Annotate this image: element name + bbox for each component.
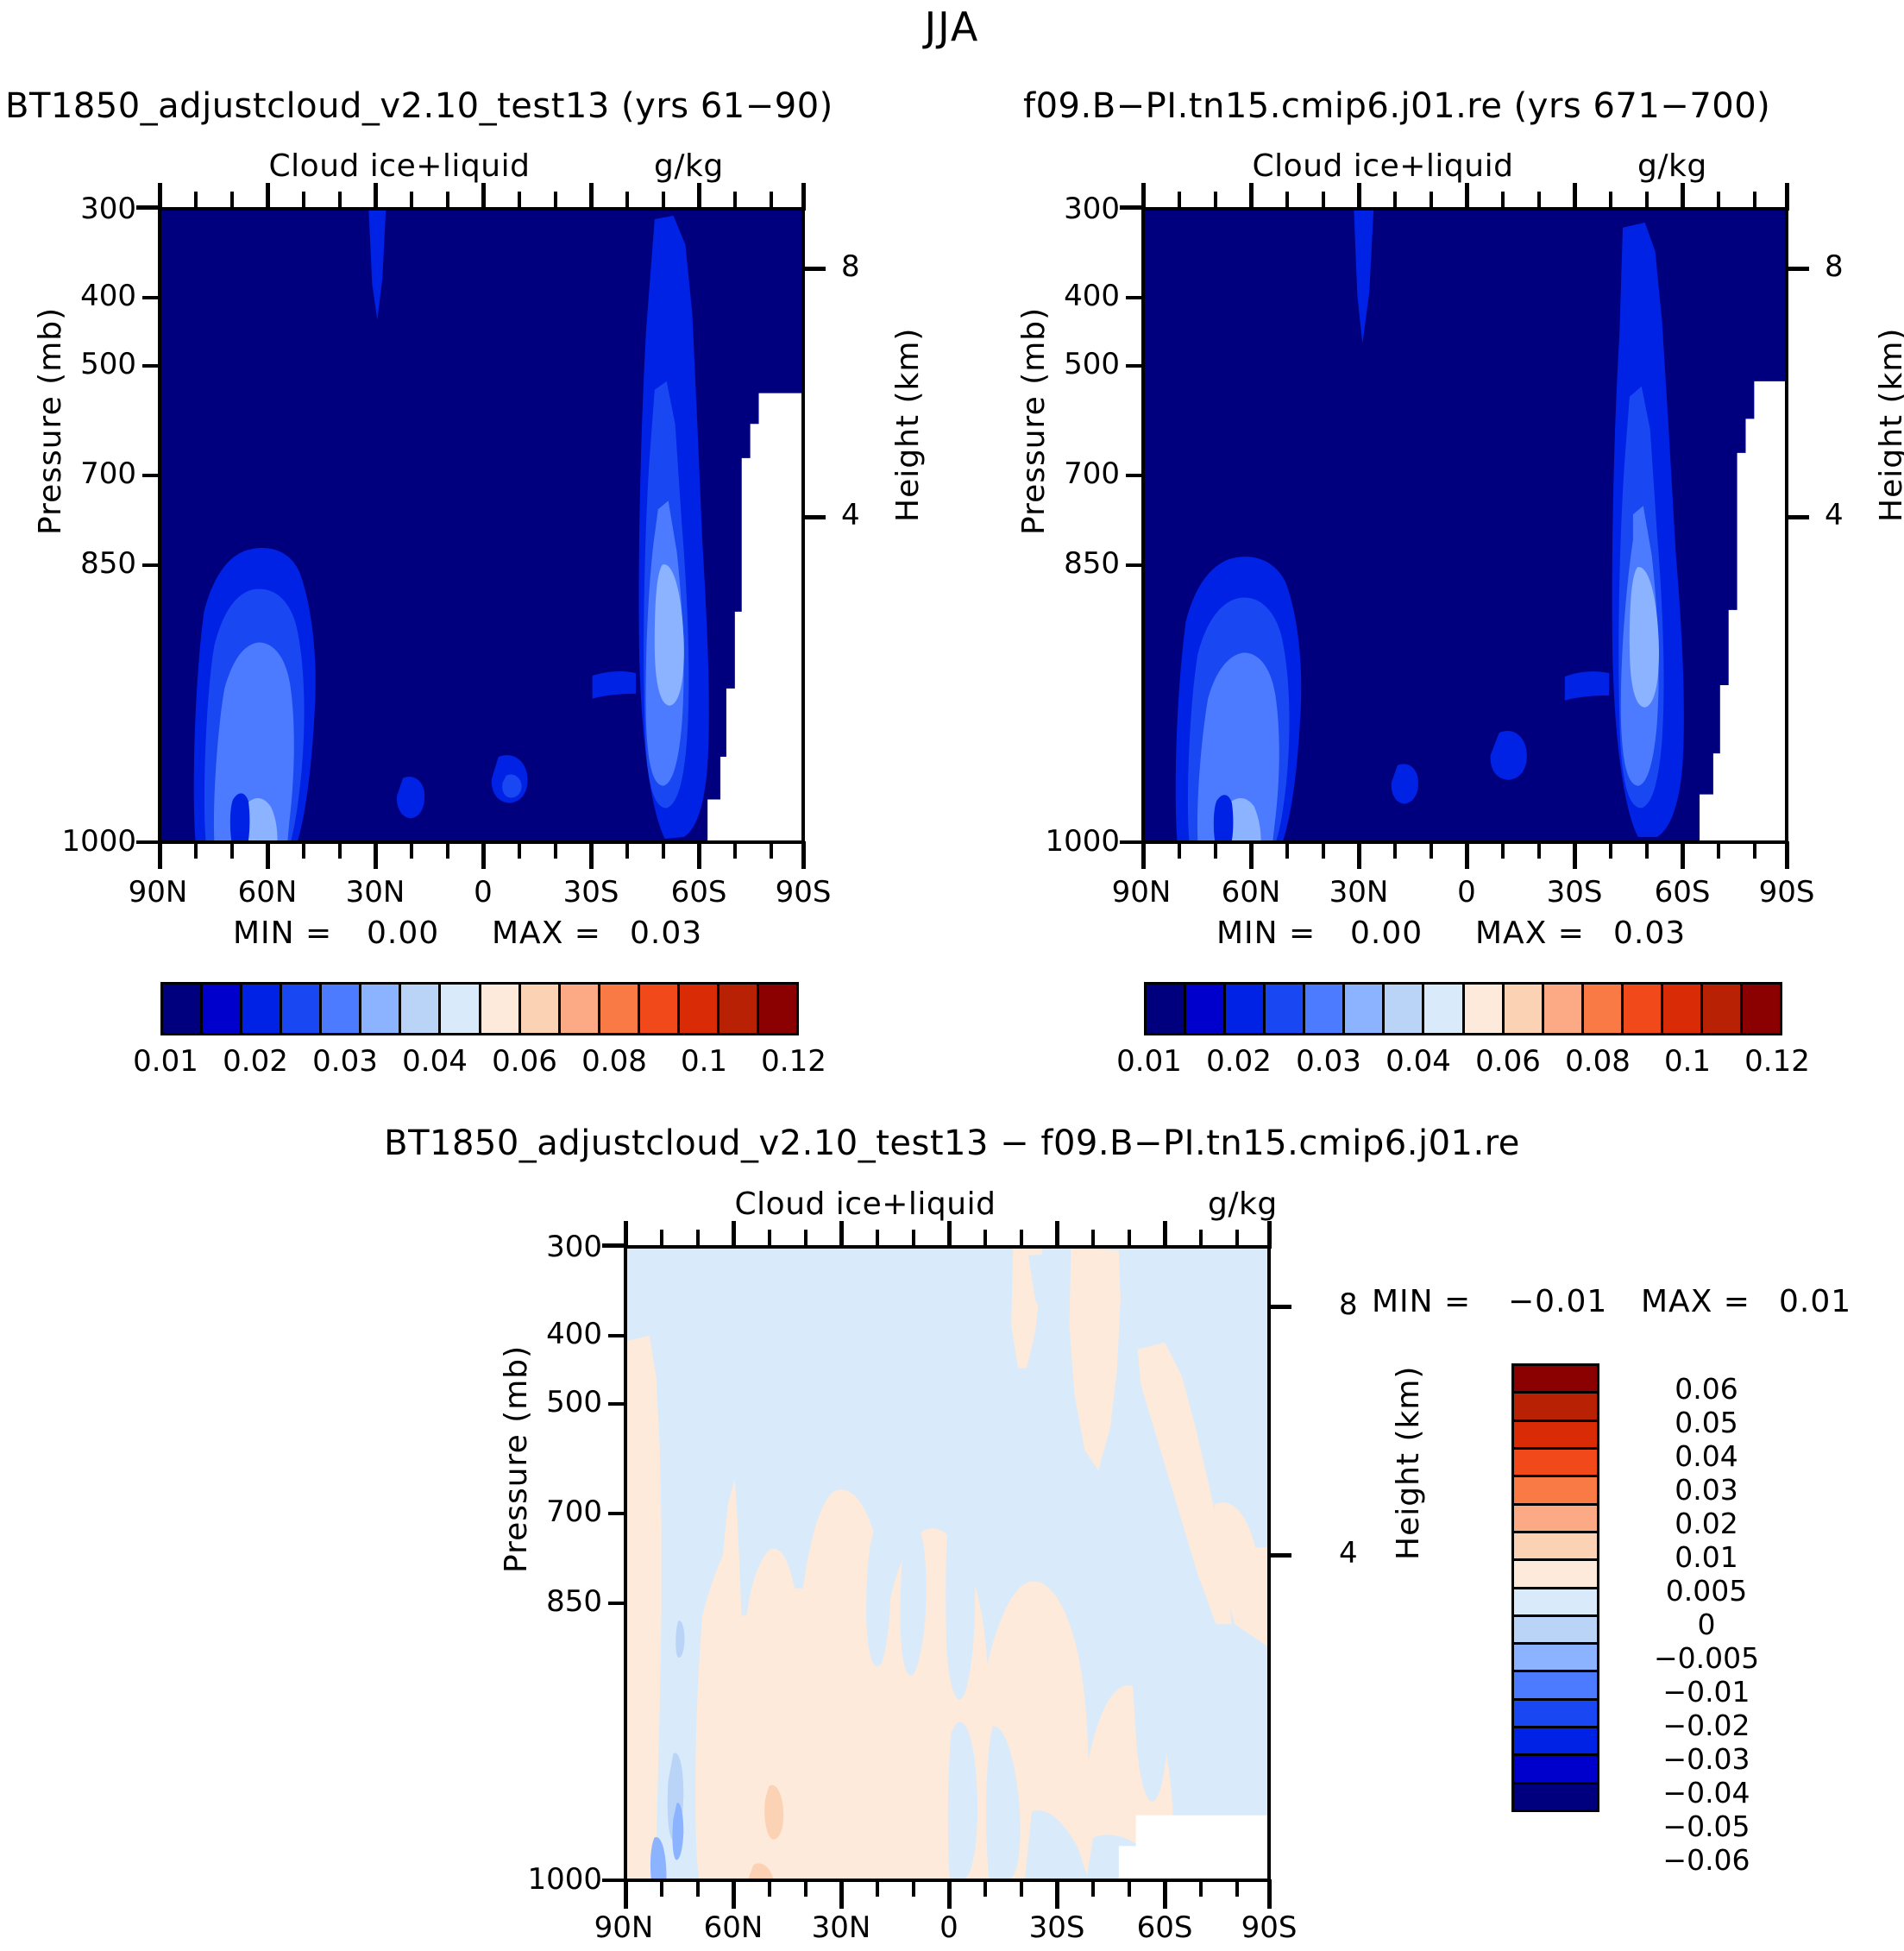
left-ylabel-pressure: Pressure (mb) (33, 307, 68, 535)
right-panel-variable-label: Cloud ice+liquid (1141, 148, 1624, 184)
diff-xtick-30N: 30N (785, 1910, 897, 1945)
colorbar-tick-label-0: 0.01 (121, 1044, 211, 1079)
diff-ytick-850: 850 (529, 1584, 602, 1619)
right-xtick-30N: 30N (1303, 875, 1415, 909)
colorbar-tick-label-3: 0.04 (1373, 1044, 1463, 1079)
left-min-value: 0.00 (367, 916, 439, 951)
colorbar-swatch-9 (1505, 985, 1544, 1033)
diff-ytick-mark-300 (602, 1243, 624, 1248)
right-xtick-top-minor-5 (1430, 192, 1433, 209)
diff-xtick-top-major-0 (624, 1221, 628, 1249)
right-xtick-top-minor-0 (1178, 192, 1181, 209)
diff-ytick-mark-700 (608, 1512, 624, 1515)
right-xtick-top-major-6 (1785, 183, 1789, 211)
left-xtick-90N: 90N (102, 875, 214, 909)
colorbar-swatch-14 (719, 985, 759, 1033)
left-xtick-bot-minor-0 (194, 841, 198, 859)
diff-colorbar-tick-label-3: 0.03 (1612, 1473, 1801, 1507)
diff-colorbar-swatch-10 (1514, 1645, 1597, 1672)
left-xtick-bot-minor-5 (446, 841, 449, 859)
diff-xtick-bot-minor-0 (660, 1879, 663, 1897)
left-xtick-top-minor-8 (625, 192, 629, 209)
diff-colorbar-labels: 0.060.050.040.030.020.010.0050−0.005−0.0… (1612, 1372, 1801, 1803)
right-xtick-top-major-2 (1357, 183, 1361, 211)
colorbar-swatch-1 (1186, 985, 1226, 1033)
colorbar-tick-label-3: 0.04 (390, 1044, 480, 1079)
left-xtick-bot-major-1 (266, 841, 270, 869)
right-ytick-mark-400 (1126, 296, 1141, 299)
diff-xtick-top-major-2 (839, 1221, 844, 1249)
left-colorbar-labels: 0.010.020.030.040.060.080.10.12 (121, 1044, 839, 1079)
right-panel-contour-field (1145, 211, 1785, 840)
left-panel-units-label: g/kg (654, 148, 724, 184)
diff-colorbar-swatch-15 (1514, 1784, 1597, 1809)
right-xtick-top-major-5 (1681, 183, 1685, 211)
right-xtick-bot-minor-10 (1717, 841, 1720, 859)
diff-xtick-top-minor-6 (983, 1230, 987, 1247)
colorbar-swatch-10 (1544, 985, 1584, 1033)
diff-ylabel-pressure: Pressure (mb) (499, 1345, 534, 1573)
right-ytick-mark-850 (1126, 563, 1141, 567)
left-ytick-mark-400 (142, 296, 158, 299)
right-xtick-bot-minor-2 (1285, 841, 1289, 859)
diff-xtick-top-minor-5 (912, 1230, 915, 1247)
right-xtick-bot-minor-6 (1501, 841, 1505, 859)
left-xtick-90S: 90S (747, 875, 859, 909)
diff-panel-plot (624, 1245, 1271, 1882)
diff-xtick-top-major-5 (1163, 1221, 1167, 1249)
diff-xtick-top-minor-7 (1020, 1230, 1023, 1247)
colorbar-tick-label-2: 0.03 (1284, 1044, 1373, 1079)
diff-xtick-bot-minor-7 (1020, 1879, 1023, 1897)
left-xtick-top-minor-6 (518, 192, 521, 209)
left-ytick-700: 700 (63, 456, 136, 491)
diff-ytick-mark-400 (608, 1334, 624, 1337)
left-xtick-bot-minor-3 (338, 841, 342, 859)
colorbar-tick-label-5: 0.08 (1553, 1044, 1643, 1079)
diff-colorbar-swatch-9 (1514, 1617, 1597, 1645)
right-xtick-bot-major-5 (1681, 841, 1685, 869)
colorbar-swatch-12 (1624, 985, 1663, 1033)
diff-y2tick-4: 4 (1339, 1536, 1358, 1570)
diff-colorbar-tick-label-11: −0.03 (1612, 1742, 1801, 1776)
diff-colorbar-tick-label-2: 0.04 (1612, 1439, 1801, 1473)
colorbar-tick-label-6: 0.1 (1643, 1044, 1732, 1079)
diff-colorbar-tick-label-5: 0.01 (1612, 1540, 1801, 1574)
left-xtick-bot-minor-7 (554, 841, 557, 859)
left-y2tick-8: 8 (841, 249, 860, 284)
right-xtick-90S: 90S (1731, 875, 1843, 909)
diff-xtick-bot-minor-10 (1199, 1879, 1203, 1897)
right-panel-units-label: g/kg (1637, 148, 1707, 184)
diff-xtick-top-minor-8 (1091, 1230, 1095, 1247)
colorbar-swatch-14 (1703, 985, 1743, 1033)
right-xtick-bot-major-2 (1357, 841, 1361, 869)
right-ytick-mark-500 (1126, 364, 1141, 368)
right-xtick-top-minor-2 (1285, 192, 1289, 209)
diff-colorbar-tick-label-1: 0.05 (1612, 1406, 1801, 1439)
right-xtick-top-minor-1 (1214, 192, 1217, 209)
diff-colorbar-swatch-0 (1514, 1366, 1597, 1394)
right-xtick-60N: 60N (1195, 875, 1307, 909)
colorbar-swatch-0 (163, 985, 203, 1033)
diff-panel-units-label: g/kg (1208, 1186, 1278, 1222)
right-xtick-60S: 60S (1626, 875, 1738, 909)
diff-colorbar-tick-label-6: 0.005 (1612, 1574, 1801, 1608)
colorbar-swatch-4 (1305, 985, 1345, 1033)
colorbar-tick-label-7: 0.12 (749, 1044, 839, 1079)
left-xtick-top-minor-10 (733, 192, 737, 209)
left-ytick-mark-700 (142, 474, 158, 477)
diff-colorbar-tick-label-4: 0.02 (1612, 1507, 1801, 1540)
colorbar-swatch-10 (561, 985, 600, 1033)
diff-max-value: 0.01 (1779, 1284, 1851, 1319)
colorbar-tick-label-0: 0.01 (1104, 1044, 1194, 1079)
right-xtick-bot-minor-0 (1178, 841, 1181, 859)
diff-xtick-bot-major-1 (732, 1879, 736, 1909)
right-xtick-top-minor-6 (1501, 192, 1505, 209)
left-panel-plot (158, 207, 805, 844)
left-xtick-top-minor-1 (230, 192, 234, 209)
left-xtick-top-minor-3 (338, 192, 342, 209)
diff-colorbar-swatch-12 (1514, 1701, 1597, 1728)
diff-xtick-top-minor-3 (804, 1230, 807, 1247)
right-xtick-bot-major-3 (1465, 841, 1469, 869)
diff-xtick-60N: 60N (677, 1910, 789, 1945)
diff-xtick-30S: 30S (1001, 1910, 1113, 1945)
left-xtick-bot-minor-1 (230, 841, 234, 859)
diff-colorbar-swatch-5 (1514, 1506, 1597, 1533)
diff-colorbar-swatch-7 (1514, 1561, 1597, 1589)
left-xtick-bot-major-5 (697, 841, 701, 869)
diff-xtick-bot-major-3 (947, 1879, 952, 1909)
right-xtick-bot-minor-9 (1645, 841, 1649, 859)
right-ytick-400: 400 (1046, 279, 1120, 313)
diff-colorbar-swatch-2 (1514, 1422, 1597, 1450)
diff-ytick-300: 300 (529, 1230, 602, 1264)
right-xtick-top-minor-9 (1645, 192, 1649, 209)
right-xtick-bot-minor-4 (1393, 841, 1397, 859)
left-xtick-top-minor-11 (770, 192, 773, 209)
colorbar-swatch-7 (441, 985, 481, 1033)
left-xtick-bot-major-4 (589, 841, 594, 869)
colorbar-swatch-9 (521, 985, 561, 1033)
diff-min-value: −0.01 (1508, 1284, 1607, 1319)
right-xtick-bot-minor-11 (1753, 841, 1756, 859)
right-max-value: 0.03 (1613, 916, 1686, 951)
diff-xtick-90N: 90N (568, 1910, 680, 1945)
diff-colorbar-tick-label-10: −0.02 (1612, 1709, 1801, 1742)
left-ytick-mark-500 (142, 364, 158, 368)
diff-xtick-bot-major-4 (1055, 1879, 1059, 1909)
left-xtick-top-major-0 (158, 183, 162, 211)
diff-colorbar-swatch-11 (1514, 1672, 1597, 1700)
colorbar-swatch-6 (1385, 985, 1424, 1033)
left-y2tick-mark-8 (805, 267, 826, 271)
right-xtick-top-minor-3 (1322, 192, 1325, 209)
right-xtick-bot-major-1 (1249, 841, 1254, 869)
left-ytick-850: 850 (63, 546, 136, 581)
diff-ytick-500: 500 (529, 1385, 602, 1419)
left-ytick-500: 500 (63, 347, 136, 381)
right-ytick-850: 850 (1046, 546, 1120, 581)
diff-xtick-bot-minor-4 (876, 1879, 879, 1897)
right-xtick-bot-minor-5 (1430, 841, 1433, 859)
left-xtick-top-minor-7 (554, 192, 557, 209)
right-xtick-top-major-4 (1573, 183, 1577, 211)
diff-colorbar-tick-label-13: −0.05 (1612, 1809, 1801, 1843)
right-y2label-height: Height (km) (1874, 328, 1904, 522)
right-xtick-top-major-3 (1465, 183, 1469, 211)
diff-colorbar-swatch-8 (1514, 1589, 1597, 1617)
left-xtick-top-major-2 (374, 183, 378, 211)
right-xtick-top-major-0 (1141, 183, 1146, 211)
left-xtick-bot-minor-10 (733, 841, 737, 859)
left-ytick-1000: 1000 (50, 824, 136, 859)
right-xtick-bot-minor-1 (1214, 841, 1217, 859)
right-ytick-500: 500 (1046, 347, 1120, 381)
diff-y2label-height: Height (km) (1391, 1366, 1426, 1560)
right-xtick-bot-major-6 (1785, 841, 1789, 869)
diff-xtick-top-minor-2 (768, 1230, 771, 1247)
left-xtick-bot-major-6 (801, 841, 806, 869)
diff-colorbar-tick-label-14: −0.06 (1612, 1843, 1801, 1877)
left-xtick-top-major-4 (589, 183, 594, 211)
left-panel-contour-field (161, 211, 801, 840)
diff-xtick-bot-minor-3 (804, 1879, 807, 1897)
diff-ytick-mark-500 (608, 1402, 624, 1406)
left-xtick-top-minor-5 (446, 192, 449, 209)
diff-xtick-bot-minor-11 (1235, 1879, 1239, 1897)
diff-colorbar-swatch-4 (1514, 1477, 1597, 1505)
left-min-label: MIN = (233, 916, 332, 951)
diff-xtick-bot-minor-2 (768, 1879, 771, 1897)
left-xtick-60S: 60S (643, 875, 755, 909)
colorbar-tick-label-4: 0.06 (1463, 1044, 1553, 1079)
right-min-label: MIN = (1216, 916, 1316, 951)
left-ytick-mark-300 (136, 205, 158, 210)
left-xtick-0: 0 (427, 875, 539, 909)
colorbar-swatch-12 (640, 985, 680, 1033)
diff-xtick-top-major-6 (1267, 1221, 1272, 1249)
right-y2tick-mark-8 (1788, 267, 1809, 271)
diff-colorbar (1511, 1363, 1599, 1812)
colorbar-tick-label-6: 0.1 (659, 1044, 749, 1079)
diff-colorbar-swatch-1 (1514, 1394, 1597, 1421)
left-max-label: MAX = (492, 916, 601, 951)
left-xtick-bot-minor-4 (410, 841, 413, 859)
right-panel-title: f09.B−PI.tn15.cmip6.j01.re (yrs 671−700) (1023, 86, 1770, 126)
right-y2tick-mark-4 (1788, 515, 1809, 519)
diff-xtick-bot-major-2 (839, 1879, 844, 1909)
right-xtick-bot-major-4 (1573, 841, 1577, 869)
right-xtick-top-major-1 (1249, 183, 1254, 211)
left-y2label-height: Height (km) (890, 328, 926, 522)
left-xtick-bot-minor-9 (662, 841, 665, 859)
diff-y2tick-mark-8 (1271, 1305, 1291, 1309)
diff-min-label: MIN = (1372, 1284, 1471, 1319)
right-ytick-700: 700 (1046, 456, 1120, 491)
colorbar-swatch-2 (1226, 985, 1266, 1033)
right-xtick-top-minor-10 (1717, 192, 1720, 209)
diff-xtick-60S: 60S (1109, 1910, 1221, 1945)
colorbar-swatch-11 (600, 985, 640, 1033)
right-xtick-top-minor-11 (1753, 192, 1756, 209)
left-ytick-mark-1000 (136, 840, 158, 844)
right-max-label: MAX = (1475, 916, 1585, 951)
right-ytick-300: 300 (1046, 192, 1120, 226)
right-xtick-30S: 30S (1518, 875, 1631, 909)
left-ytick-mark-850 (142, 563, 158, 567)
left-y2tick-4: 4 (841, 498, 860, 532)
diff-xtick-bot-minor-9 (1128, 1879, 1131, 1897)
right-y2tick-4: 4 (1825, 498, 1844, 532)
right-xtick-bot-major-0 (1141, 841, 1146, 869)
diff-colorbar-tick-label-8: −0.005 (1612, 1641, 1801, 1675)
diff-ytick-400: 400 (529, 1317, 602, 1351)
diff-xtick-90S: 90S (1213, 1910, 1325, 1945)
diff-panel-contour-field (627, 1249, 1267, 1879)
diff-xtick-top-minor-1 (696, 1230, 700, 1247)
diff-colorbar-swatch-14 (1514, 1756, 1597, 1784)
left-y2tick-mark-4 (805, 515, 826, 519)
colorbar-swatch-5 (361, 985, 401, 1033)
right-ytick-mark-300 (1120, 205, 1141, 210)
diff-max-label: MAX = (1641, 1284, 1750, 1319)
colorbar-swatch-15 (1743, 985, 1780, 1033)
diff-ytick-mark-1000 (602, 1879, 624, 1882)
colorbar-swatch-6 (401, 985, 441, 1033)
left-panel-variable-label: Cloud ice+liquid (158, 148, 641, 184)
colorbar-tick-label-5: 0.08 (569, 1044, 659, 1079)
left-xtick-bot-major-0 (158, 841, 162, 869)
diff-colorbar-tick-label-12: −0.04 (1612, 1776, 1801, 1809)
diff-colorbar-swatch-13 (1514, 1728, 1597, 1756)
diff-panel-variable-label: Cloud ice+liquid (624, 1186, 1107, 1222)
right-xtick-90N: 90N (1085, 875, 1197, 909)
diff-xtick-bot-minor-5 (912, 1879, 915, 1897)
left-xtick-top-minor-2 (302, 192, 305, 209)
right-ylabel-pressure: Pressure (mb) (1016, 307, 1052, 535)
diff-colorbar-tick-label-0: 0.06 (1612, 1372, 1801, 1406)
left-xtick-bot-major-2 (374, 841, 378, 869)
diff-xtick-top-minor-10 (1199, 1230, 1203, 1247)
diff-xtick-0: 0 (893, 1910, 1005, 1945)
diff-colorbar-swatch-6 (1514, 1533, 1597, 1561)
right-ytick-mark-1000 (1120, 840, 1141, 844)
diff-colorbar-tick-label-7: 0 (1612, 1608, 1801, 1641)
left-xtick-top-major-5 (697, 183, 701, 211)
right-xtick-top-minor-8 (1609, 192, 1612, 209)
colorbar-swatch-1 (203, 985, 242, 1033)
right-xtick-0: 0 (1411, 875, 1523, 909)
diff-ytick-700: 700 (529, 1495, 602, 1529)
diff-y2tick-mark-4 (1271, 1553, 1291, 1558)
right-xtick-top-minor-4 (1393, 192, 1397, 209)
right-min-value: 0.00 (1350, 916, 1423, 951)
colorbar-tick-label-4: 0.06 (480, 1044, 569, 1079)
left-xtick-bot-major-3 (481, 841, 486, 869)
left-xtick-bot-minor-2 (302, 841, 305, 859)
left-ytick-300: 300 (63, 192, 136, 226)
diff-xtick-bot-minor-6 (983, 1879, 987, 1897)
colorbar-swatch-3 (282, 985, 322, 1033)
left-xtick-top-major-6 (801, 183, 806, 211)
diff-ytick-mark-850 (608, 1602, 624, 1605)
colorbar-swatch-5 (1345, 985, 1385, 1033)
colorbar-tick-label-2: 0.03 (300, 1044, 390, 1079)
left-xtick-bot-minor-6 (518, 841, 521, 859)
colorbar-tick-label-1: 0.02 (211, 1044, 300, 1079)
diff-ytick-1000: 1000 (516, 1862, 602, 1897)
diff-panel-title: BT1850_adjustcloud_v2.10_test13 − f09.B−… (0, 1123, 1904, 1163)
right-colorbar (1144, 982, 1782, 1035)
left-xtick-30S: 30S (535, 875, 647, 909)
left-xtick-bot-minor-11 (770, 841, 773, 859)
diff-colorbar-tick-label-9: −0.01 (1612, 1675, 1801, 1709)
diff-xtick-top-major-4 (1055, 1221, 1059, 1249)
colorbar-swatch-13 (680, 985, 719, 1033)
colorbar-swatch-2 (242, 985, 282, 1033)
colorbar-swatch-8 (1465, 985, 1505, 1033)
colorbar-tick-label-1: 0.02 (1194, 1044, 1284, 1079)
colorbar-swatch-13 (1663, 985, 1703, 1033)
colorbar-tick-label-7: 0.12 (1732, 1044, 1822, 1079)
diff-xtick-top-minor-11 (1235, 1230, 1239, 1247)
left-panel-title: BT1850_adjustcloud_v2.10_test13 (yrs 61−… (5, 86, 833, 126)
colorbar-swatch-8 (481, 985, 521, 1033)
right-colorbar-labels: 0.010.020.030.040.060.080.10.12 (1104, 1044, 1822, 1079)
colorbar-swatch-11 (1584, 985, 1624, 1033)
left-xtick-bot-minor-8 (625, 841, 629, 859)
left-colorbar (160, 982, 799, 1035)
colorbar-swatch-7 (1424, 985, 1464, 1033)
left-xtick-top-major-1 (266, 183, 270, 211)
right-xtick-top-minor-7 (1537, 192, 1541, 209)
right-ytick-1000: 1000 (1034, 824, 1120, 859)
diff-xtick-bot-major-6 (1267, 1879, 1272, 1909)
left-max-value: 0.03 (630, 916, 702, 951)
colorbar-swatch-4 (322, 985, 361, 1033)
left-xtick-60N: 60N (211, 875, 324, 909)
colorbar-swatch-0 (1147, 985, 1186, 1033)
diff-xtick-bot-minor-1 (696, 1879, 700, 1897)
right-xtick-bot-minor-7 (1537, 841, 1541, 859)
diff-xtick-bot-minor-8 (1091, 1879, 1095, 1897)
right-xtick-bot-minor-8 (1609, 841, 1612, 859)
right-xtick-bot-minor-3 (1322, 841, 1325, 859)
left-xtick-top-major-3 (481, 183, 486, 211)
diff-xtick-bot-major-0 (624, 1879, 628, 1909)
diff-xtick-top-minor-4 (876, 1230, 879, 1247)
season-title: JJA (0, 3, 1904, 50)
diff-xtick-top-minor-9 (1128, 1230, 1131, 1247)
diff-y2tick-8: 8 (1339, 1287, 1358, 1322)
diff-xtick-bot-major-5 (1163, 1879, 1167, 1909)
colorbar-swatch-3 (1266, 985, 1305, 1033)
diff-colorbar-swatch-3 (1514, 1450, 1597, 1477)
right-y2tick-8: 8 (1825, 249, 1844, 284)
diff-xtick-top-major-1 (732, 1221, 736, 1249)
right-ytick-mark-700 (1126, 474, 1141, 477)
left-ytick-400: 400 (63, 279, 136, 313)
left-xtick-top-minor-0 (194, 192, 198, 209)
left-xtick-top-minor-4 (410, 192, 413, 209)
colorbar-swatch-15 (759, 985, 796, 1033)
diff-xtick-top-minor-0 (660, 1230, 663, 1247)
diff-xtick-top-major-3 (947, 1221, 952, 1249)
left-xtick-30N: 30N (319, 875, 431, 909)
